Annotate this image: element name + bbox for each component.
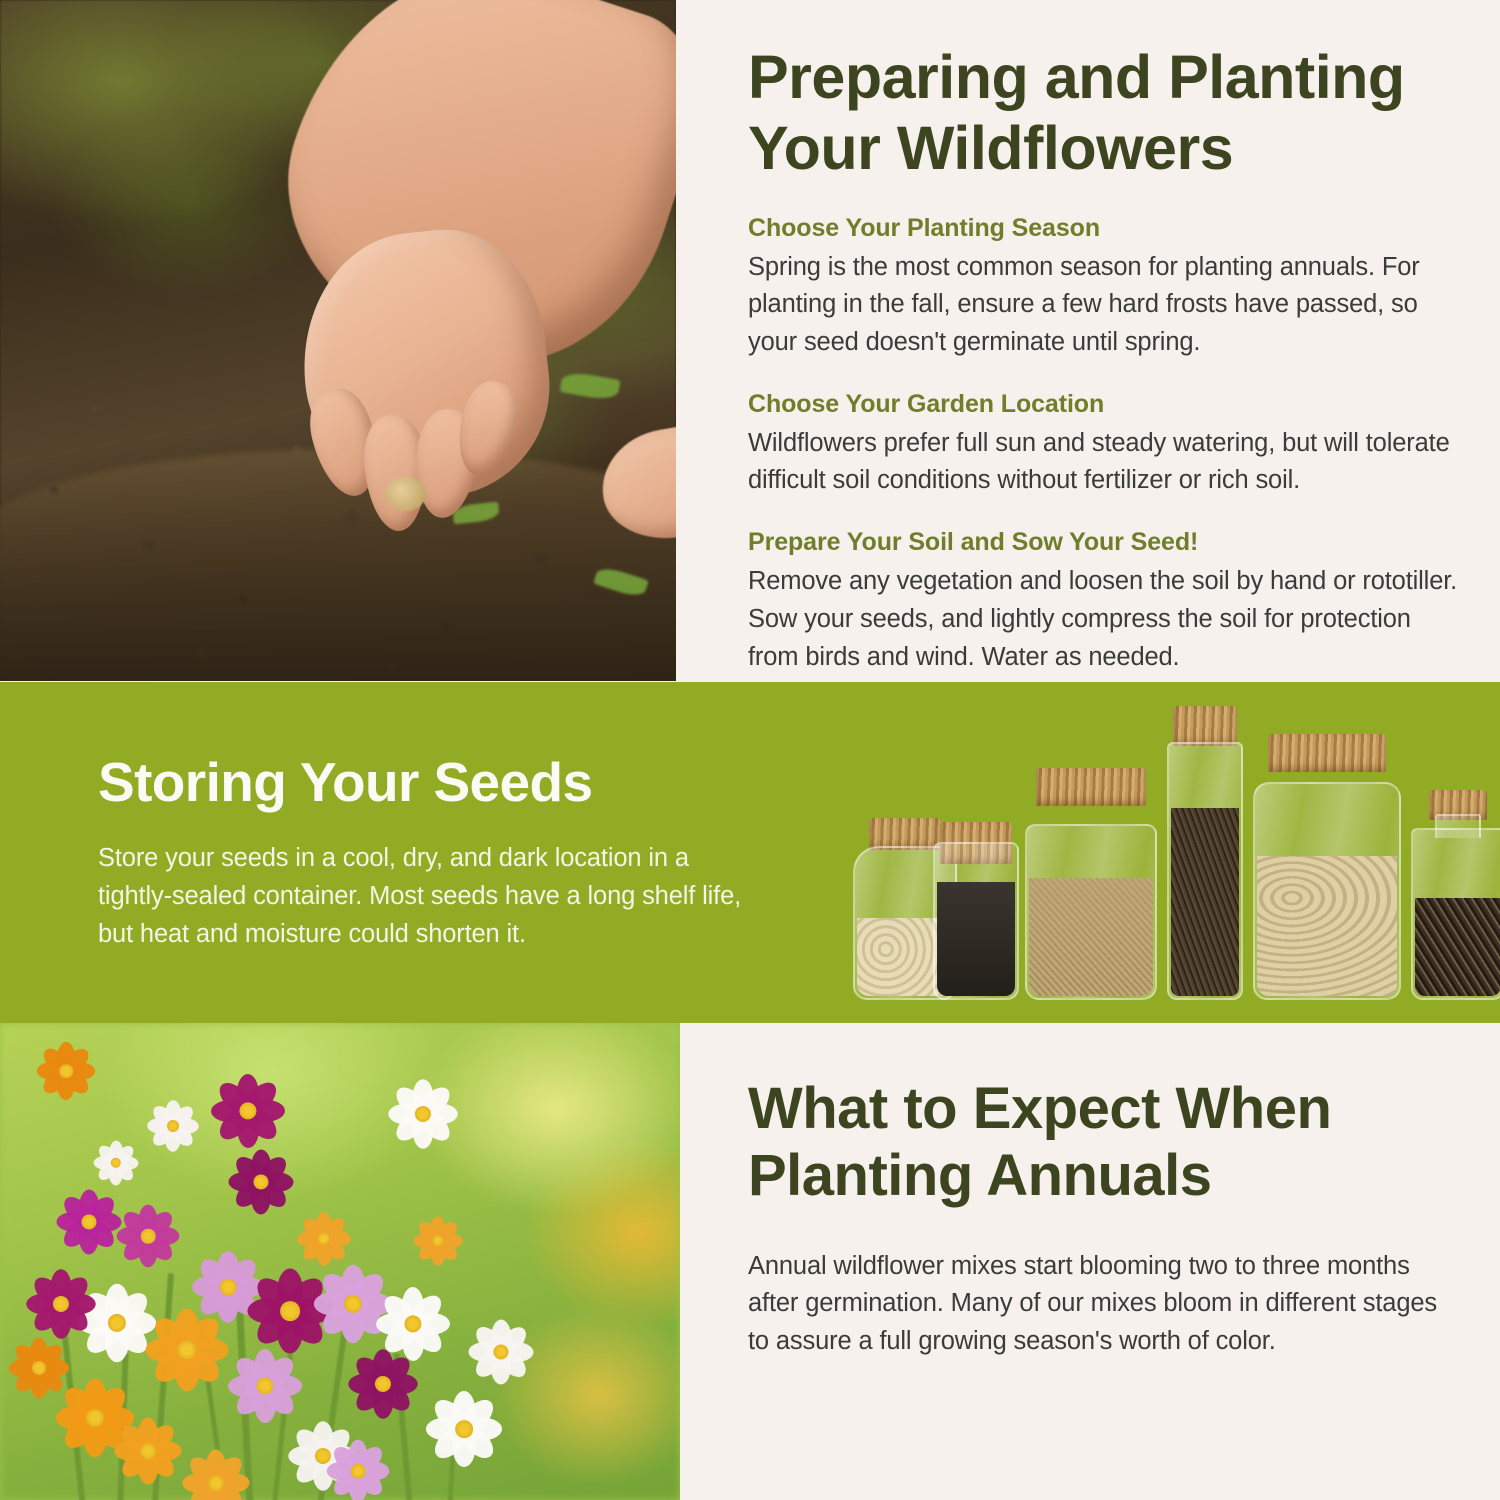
wildflower bbox=[30, 1273, 92, 1335]
flower-center bbox=[141, 1229, 156, 1244]
photo-hand-sowing-seeds bbox=[0, 0, 676, 681]
flower-center bbox=[493, 1344, 508, 1359]
wildflower bbox=[232, 1153, 290, 1211]
body-storing-your-seeds: Store your seeds in a cool, dry, and dar… bbox=[98, 839, 758, 954]
subheading-planting-season: Choose Your Planting Season bbox=[748, 214, 1460, 243]
body-planting-season: Spring is the most common season for pla… bbox=[748, 249, 1460, 362]
wildflower bbox=[430, 1395, 498, 1463]
photo-seed-jars bbox=[845, 700, 1465, 1000]
wildflower bbox=[392, 1083, 454, 1145]
wildflower bbox=[472, 1323, 530, 1381]
section-what-to-expect: What to Expect When Planting Annuals Ann… bbox=[0, 1023, 1500, 1500]
page-title: Preparing and Planting Your Wildflowers bbox=[748, 42, 1438, 184]
wildflower bbox=[12, 1341, 66, 1395]
body-prepare-soil: Remove any vegetation and loosen the soi… bbox=[748, 563, 1460, 676]
wildflower bbox=[96, 1143, 136, 1183]
flower-center bbox=[253, 1174, 268, 1189]
jar-tall-dark-seeds bbox=[1167, 710, 1243, 1000]
body-what-to-expect: Annual wildflower mixes start blooming t… bbox=[748, 1248, 1438, 1361]
top-text-column: Preparing and Planting Your Wildflowers … bbox=[748, 0, 1500, 681]
flower-center bbox=[351, 1464, 366, 1479]
wildflower bbox=[380, 1291, 446, 1357]
glass-body bbox=[1167, 742, 1243, 1000]
jar-black-seeds bbox=[933, 814, 1019, 1000]
wildflower bbox=[186, 1453, 246, 1500]
glass-body bbox=[1025, 824, 1157, 1000]
jar-tan-grain bbox=[1025, 790, 1157, 1000]
block-planting-season: Choose Your Planting Season Spring is th… bbox=[748, 214, 1460, 362]
photo-wildflower-bouquet bbox=[0, 1023, 680, 1500]
flower-center bbox=[59, 1064, 73, 1078]
wildflower bbox=[252, 1273, 328, 1349]
green-text-column: Storing Your Seeds Store your seeds in a… bbox=[98, 752, 758, 953]
heading-what-to-expect: What to Expect When Planting Annuals bbox=[748, 1075, 1428, 1210]
cork-lid-icon bbox=[1173, 706, 1237, 746]
flower-center bbox=[140, 1443, 156, 1459]
seed-fill bbox=[1171, 808, 1239, 996]
seed-fill bbox=[1415, 898, 1500, 996]
block-prepare-soil: Prepare Your Soil and Sow Your Seed! Rem… bbox=[748, 528, 1460, 676]
section-storing-your-seeds: Storing Your Seeds Store your seeds in a… bbox=[0, 682, 1500, 1023]
glass-body bbox=[933, 842, 1019, 1000]
wildflower bbox=[300, 1215, 348, 1263]
wildflower bbox=[352, 1353, 414, 1415]
seeds-in-palm bbox=[385, 477, 426, 511]
wildflower bbox=[40, 1045, 92, 1097]
seed-fill bbox=[937, 882, 1015, 996]
wildflower bbox=[232, 1353, 298, 1419]
wildflower bbox=[60, 1193, 118, 1251]
cork-lid-icon bbox=[1036, 768, 1146, 806]
infographic-page: Preparing and Planting Your Wildflowers … bbox=[0, 0, 1500, 1500]
heading-storing-your-seeds: Storing Your Seeds bbox=[98, 752, 758, 813]
flower-center bbox=[208, 1475, 224, 1491]
seed-fill bbox=[1029, 878, 1153, 996]
wildflower bbox=[330, 1443, 386, 1499]
flower-center bbox=[280, 1301, 300, 1321]
flower-center bbox=[167, 1120, 179, 1132]
wildflower bbox=[416, 1219, 460, 1263]
glass-body bbox=[1411, 828, 1500, 1000]
block-garden-location: Choose Your Garden Location Wildflowers … bbox=[748, 390, 1460, 500]
body-garden-location: Wildflowers prefer full sun and steady w… bbox=[748, 425, 1460, 500]
wildflower bbox=[215, 1078, 281, 1144]
wildflower bbox=[118, 1421, 178, 1481]
jar-pumpkin-seeds bbox=[1253, 750, 1401, 1000]
flower-center bbox=[455, 1420, 473, 1438]
wildflower bbox=[120, 1208, 176, 1264]
flower-center bbox=[220, 1279, 237, 1296]
bottom-text-column: What to Expect When Planting Annuals Ann… bbox=[748, 1023, 1500, 1500]
section-preparing-and-planting: Preparing and Planting Your Wildflowers … bbox=[0, 0, 1500, 682]
jar-sunflower-seeds bbox=[1411, 792, 1500, 1000]
seed-fill bbox=[1257, 856, 1397, 996]
wildflower bbox=[150, 1103, 196, 1149]
subheading-prepare-soil: Prepare Your Soil and Sow Your Seed! bbox=[748, 528, 1460, 557]
flower-center bbox=[32, 1361, 46, 1375]
glass-body bbox=[1253, 782, 1401, 1000]
cork-lid-icon bbox=[1268, 734, 1386, 772]
flower-center bbox=[81, 1214, 96, 1229]
wildflower bbox=[150, 1313, 224, 1387]
subheading-garden-location: Choose Your Garden Location bbox=[748, 390, 1460, 419]
